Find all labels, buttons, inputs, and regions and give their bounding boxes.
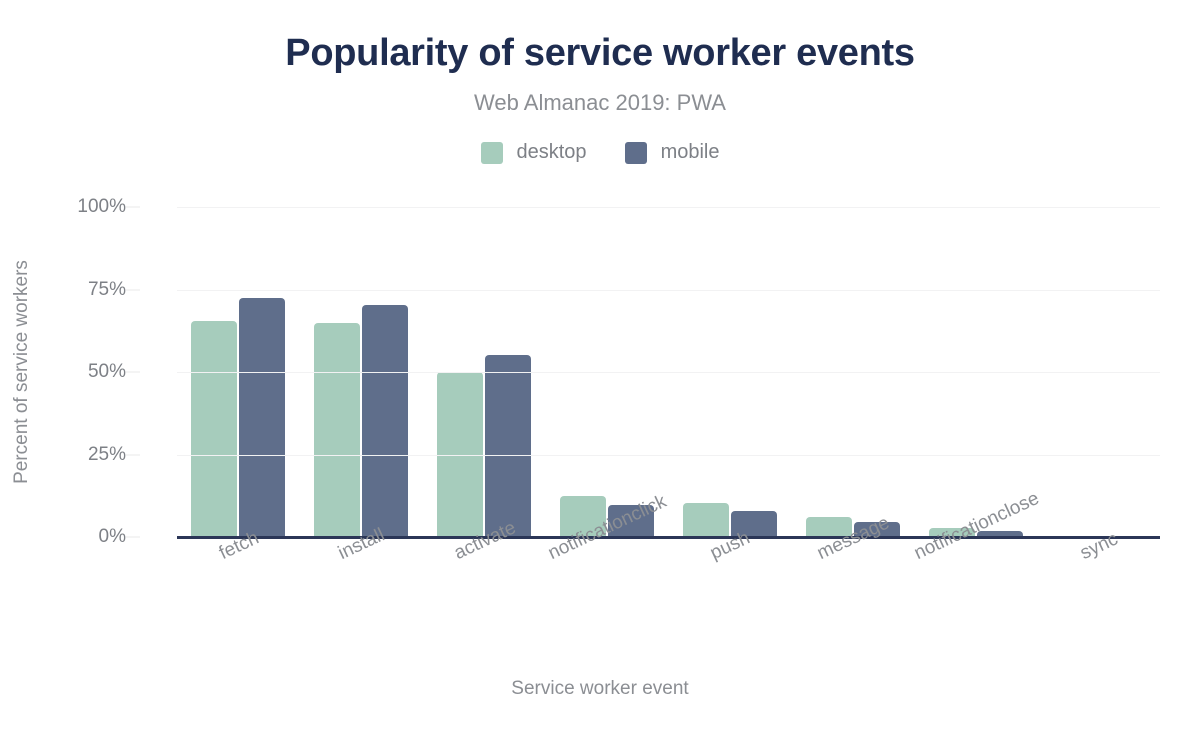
plot-area: 100%75%50%25%0% <box>177 207 1160 537</box>
y-tick-label: 100% <box>36 196 126 218</box>
chart-legend: desktopmobile <box>0 141 1200 164</box>
legend-swatch-icon <box>481 142 503 164</box>
x-tick-labels: fetchinstallactivatenotificationclickpus… <box>177 545 1160 655</box>
gridline <box>177 455 1160 456</box>
y-tick-label: 50% <box>36 361 126 383</box>
bar-mobile-install[interactable] <box>362 305 408 537</box>
x-axis-title: Service worker event <box>0 678 1200 700</box>
bar-desktop-push[interactable] <box>683 503 729 537</box>
bar-desktop-fetch[interactable] <box>191 321 237 537</box>
x-axis-baseline <box>177 536 1160 539</box>
chart-title: Popularity of service worker events <box>0 32 1200 75</box>
legend-swatch-icon <box>625 142 647 164</box>
legend-label: mobile <box>661 141 720 164</box>
bar-mobile-activate[interactable] <box>485 355 531 537</box>
bar-mobile-fetch[interactable] <box>239 298 285 537</box>
chart-subtitle: Web Almanac 2019: PWA <box>0 90 1200 116</box>
legend-item-desktop[interactable]: desktop <box>481 141 587 164</box>
gridline <box>177 290 1160 291</box>
legend-label: desktop <box>517 141 587 164</box>
y-tick-mark <box>126 372 140 373</box>
legend-item-mobile[interactable]: mobile <box>625 141 720 164</box>
y-tick-label: 25% <box>36 444 126 466</box>
y-axis-title: Percent of service workers <box>11 260 33 484</box>
y-tick-label: 75% <box>36 279 126 301</box>
bar-desktop-install[interactable] <box>314 323 360 538</box>
gridline <box>177 372 1160 373</box>
gridline <box>177 207 1160 208</box>
bar-chart: Popularity of service worker events Web … <box>0 0 1200 742</box>
y-tick-mark <box>126 537 140 538</box>
y-tick-mark <box>126 289 140 290</box>
y-tick-mark <box>126 454 140 455</box>
y-tick-mark <box>126 207 140 208</box>
y-tick-label: 0% <box>36 526 126 548</box>
